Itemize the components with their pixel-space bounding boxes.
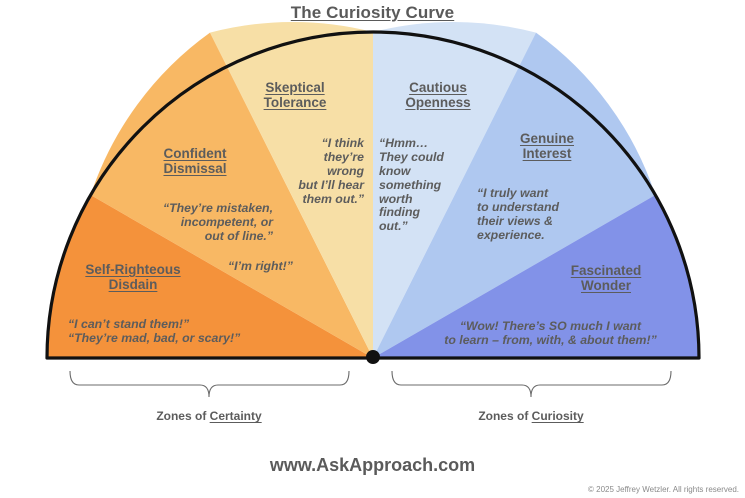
zone-label-prefix: Zones of — [156, 409, 209, 423]
bracket-curiosity — [392, 371, 671, 397]
label-line: Openness — [383, 95, 493, 110]
quote-line: “Hmm… — [379, 137, 479, 151]
quote-line: “I can’t stand them!” — [68, 318, 298, 332]
zone-label-emphasis: Curiosity — [532, 409, 584, 423]
quote-line: worth — [379, 193, 479, 207]
quote-line: out of line.” — [108, 230, 273, 244]
quote-line: They could — [379, 151, 479, 165]
wedge-label-cautious-openness: Cautious Openness — [383, 80, 493, 111]
quote-line: “I’m right!” — [228, 260, 348, 274]
wedge-quote-skeptical-tolerance: “I think they’re wrong but I’ll hear the… — [240, 137, 364, 206]
zone-label-prefix: Zones of — [478, 409, 531, 423]
center-pivot-dot — [366, 350, 380, 364]
quote-line: but I’ll hear — [240, 179, 364, 193]
zone-label-emphasis: Certainty — [210, 409, 262, 423]
curiosity-curve-diagram — [0, 0, 745, 498]
label-line: Wonder — [545, 278, 667, 293]
wedge-quote-fascinated-wonder: “Wow! There’s SO much I want to learn – … — [408, 320, 693, 348]
quote-line: something — [379, 179, 479, 193]
quote-line: “Wow! There’s SO much I want — [408, 320, 693, 334]
quote-line: incompetent, or — [108, 216, 273, 230]
quote-line: to learn – from, with, & about them!” — [408, 334, 693, 348]
label-line: Self-Righteous — [58, 262, 208, 277]
wedge-quote-confident-dismissal-short: “I’m right!” — [228, 260, 348, 274]
wedge-label-fascinated-wonder: Fascinated Wonder — [545, 263, 667, 294]
zone-label-certainty: Zones of Certainty — [129, 409, 289, 423]
label-line: Skeptical — [240, 80, 350, 95]
wedge-quote-cautious-openness: “Hmm… They could know something worth fi… — [379, 137, 479, 234]
wedge-quote-genuine-interest: “I truly want to understand their views … — [477, 187, 637, 243]
curiosity-curve-page: The Curiosity Curve Self-Righte — [0, 0, 745, 498]
quote-line: wrong — [240, 165, 364, 179]
label-line: Fascinated — [545, 263, 667, 278]
quote-line: experience. — [477, 229, 637, 243]
quote-line: “I truly want — [477, 187, 637, 201]
wedge-quote-self-righteous-disdain: “I can’t stand them!” “They’re mad, bad,… — [68, 318, 298, 346]
wedge-quote-confident-dismissal: “They’re mistaken, incompetent, or out o… — [108, 202, 273, 244]
wedge-label-genuine-interest: Genuine Interest — [492, 131, 602, 162]
site-url[interactable]: www.AskApproach.com — [0, 455, 745, 476]
quote-line: know — [379, 165, 479, 179]
zone-label-curiosity: Zones of Curiosity — [451, 409, 611, 423]
label-line: Genuine — [492, 131, 602, 146]
label-line: Tolerance — [240, 95, 350, 110]
quote-line: their views & — [477, 215, 637, 229]
quote-line: they’re — [240, 151, 364, 165]
bracket-certainty — [70, 371, 349, 397]
quote-line: “They’re mad, bad, or scary!” — [68, 332, 298, 346]
wedge-label-self-righteous-disdain: Self-Righteous Disdain — [58, 262, 208, 293]
quote-line: finding — [379, 206, 479, 220]
quote-line: “I think — [240, 137, 364, 151]
quote-line: out.” — [379, 220, 479, 234]
label-line: Cautious — [383, 80, 493, 95]
label-line: Interest — [492, 146, 602, 161]
copyright-notice: © 2025 Jeffrey Wetzler. All rights reser… — [588, 485, 739, 494]
quote-line: them out.” — [240, 193, 364, 207]
wedge-label-skeptical-tolerance: Skeptical Tolerance — [240, 80, 350, 111]
quote-line: to understand — [477, 201, 637, 215]
label-line: Disdain — [58, 277, 208, 292]
